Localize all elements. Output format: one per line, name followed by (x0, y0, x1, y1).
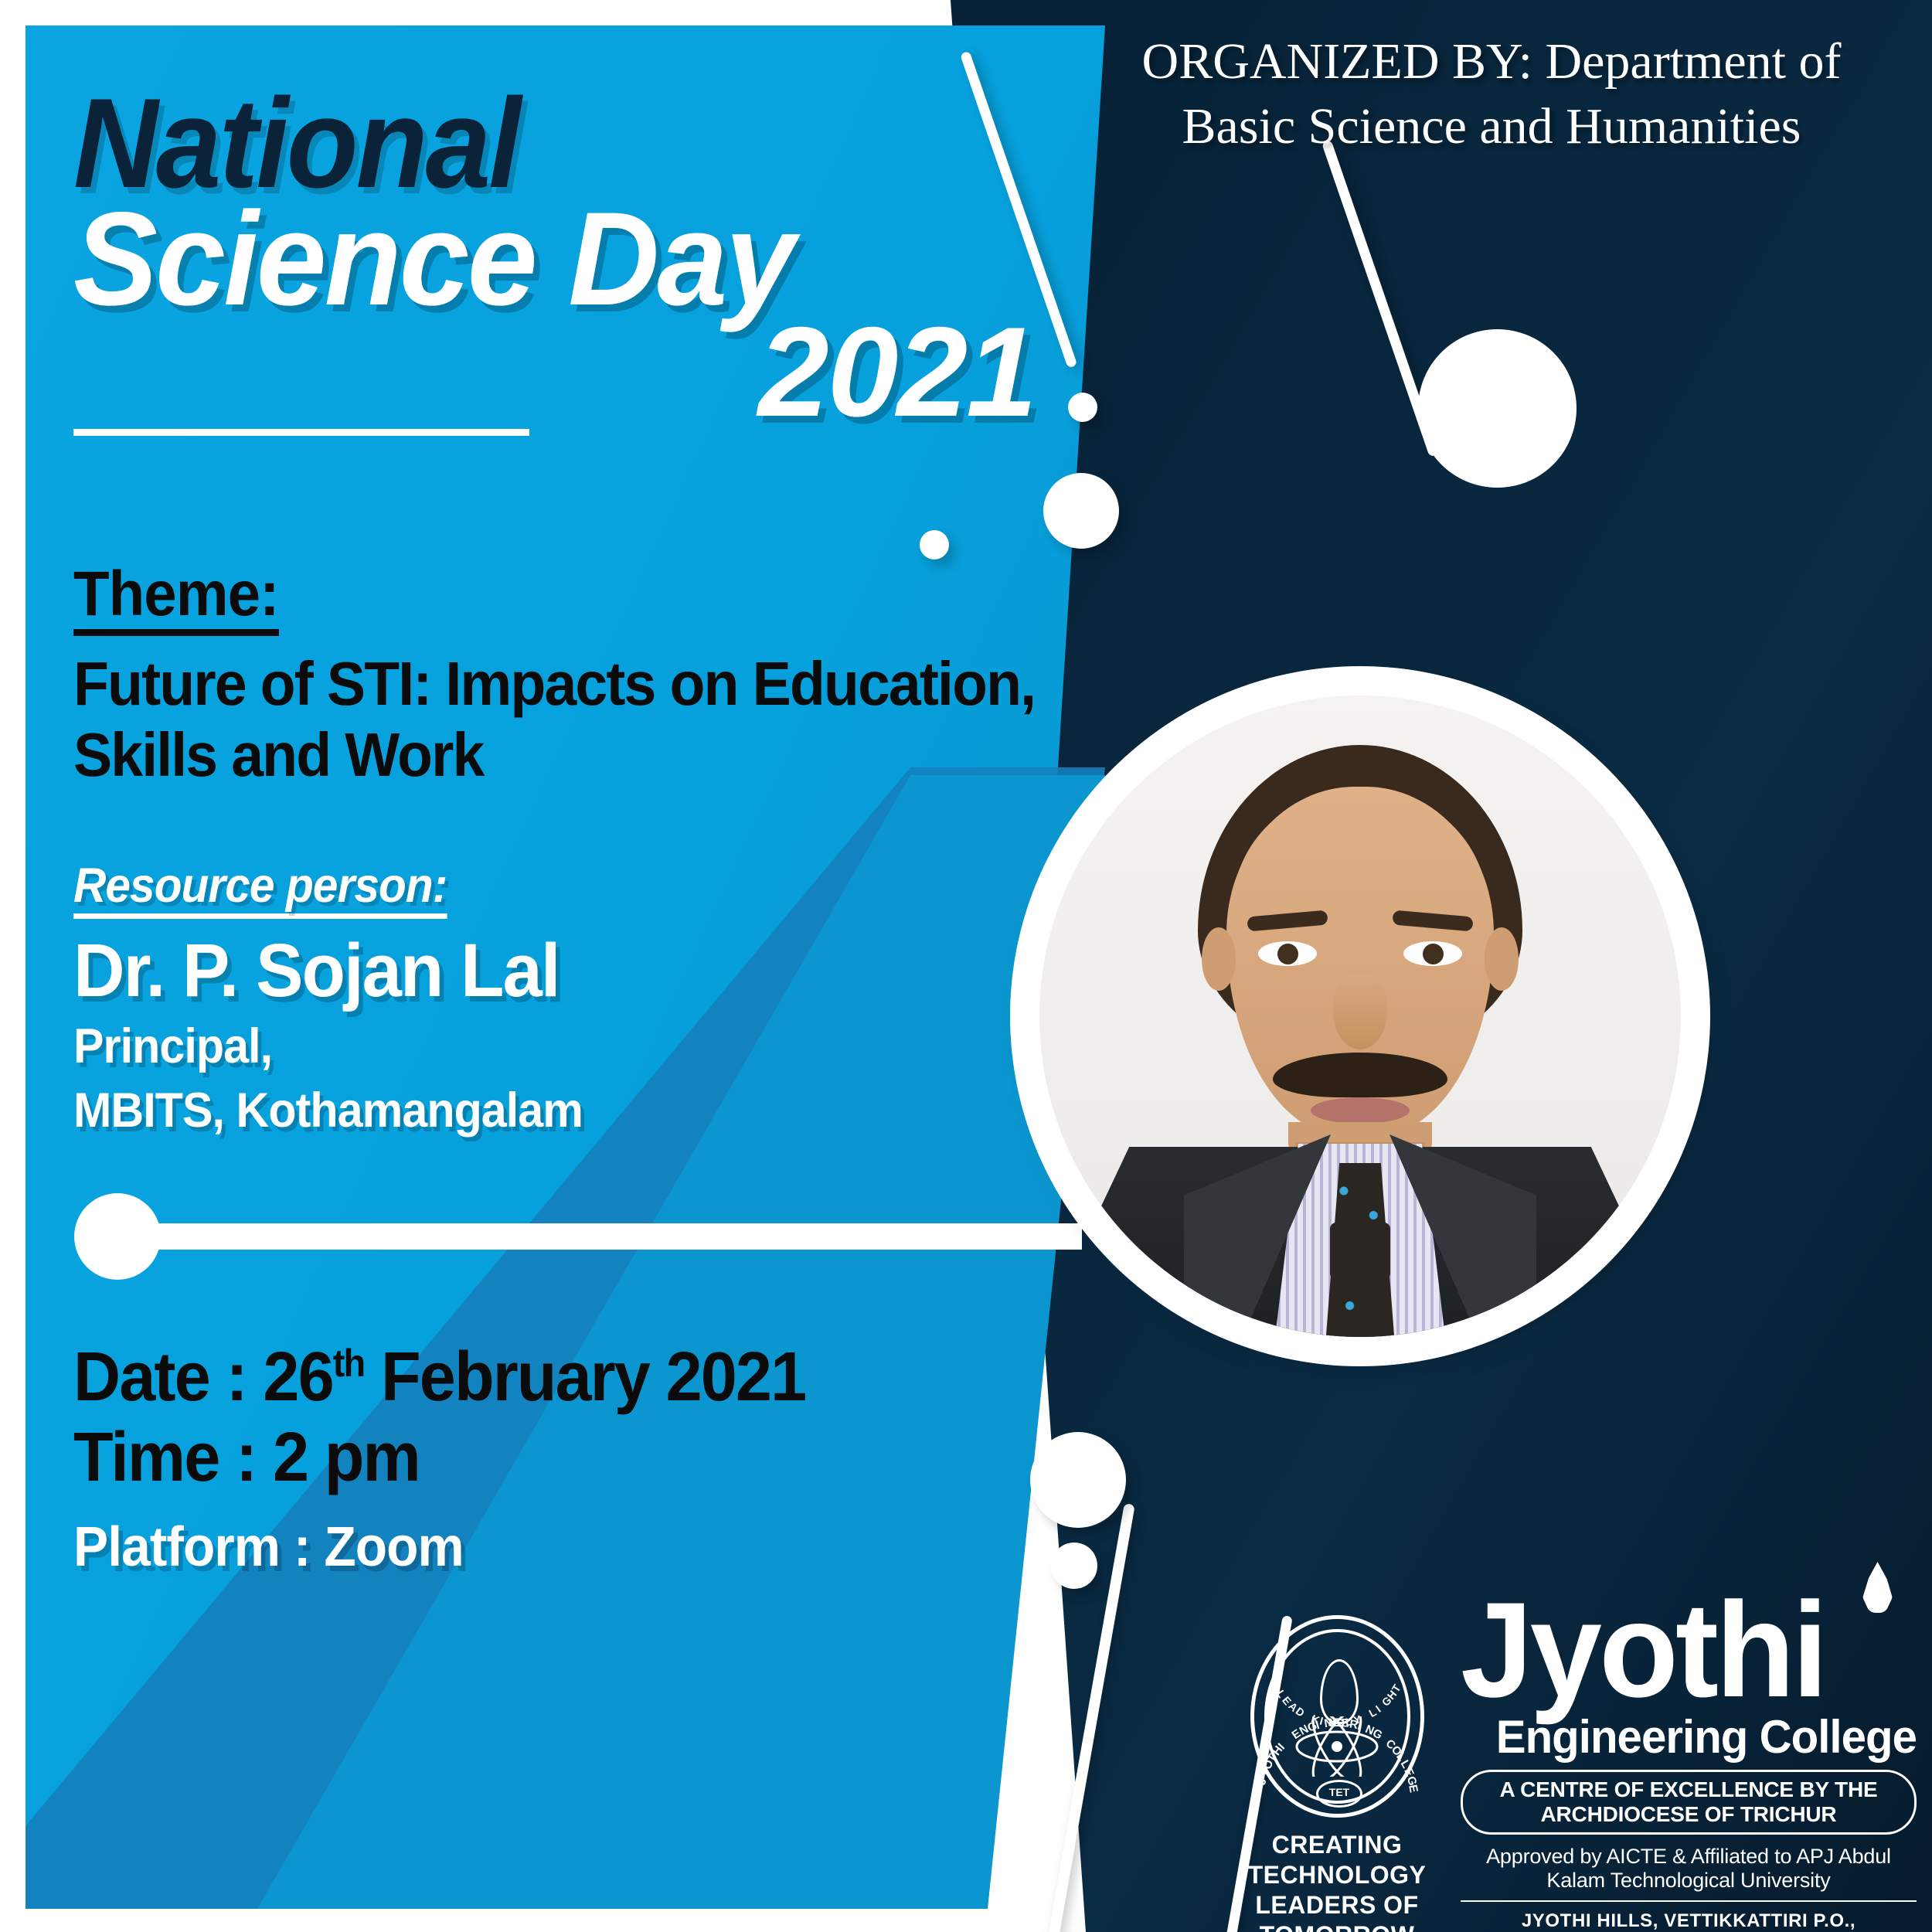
seal-arc-char: E (1406, 1784, 1420, 1794)
seal-atom-icon (1294, 1716, 1379, 1777)
college-logo-block: Jyothi Engineering College A CENTRE OF E… (1461, 1588, 1917, 1932)
resource-person-photo (1024, 680, 1696, 1352)
emblem-tagline-line-1: CREATING TECHNOLOGY (1209, 1830, 1464, 1890)
college-address-line: JYOTHI HILLS, VETTIKKATTIRI P.O., CHERUT… (1461, 1910, 1917, 1932)
portrait-eye-left (1258, 941, 1317, 966)
decorative-dot-large (1418, 329, 1577, 488)
college-wordmark: Jyothi (1461, 1588, 1898, 1713)
headline-line-science-day: Science Day (73, 192, 1050, 325)
poster-canvas: National Science Day 2021 ORGANIZED BY: … (0, 0, 1932, 1932)
organized-by-line-1: ORGANIZED BY: Department of (1078, 29, 1905, 94)
connector-dot (74, 1193, 161, 1280)
decorative-dot-medium-1 (1043, 473, 1119, 549)
decorative-dot-small-3 (1051, 1543, 1097, 1589)
portrait-nose (1333, 974, 1387, 1049)
theme-label: Theme: (73, 560, 279, 636)
theme-block: Theme: Future of STI: Impacts on Educati… (73, 560, 1101, 791)
resource-person-role-line-1: Principal, (73, 1017, 1003, 1077)
seal-tet-badge: TET (1316, 1780, 1362, 1808)
event-platform-line: Platform : Zoom (73, 1514, 988, 1580)
theme-text: Future of STI: Impacts on Education, Ski… (73, 648, 1039, 792)
college-excellence-pill: A CENTRE OF EXCELLENCE BY THE ARCHDIOCES… (1461, 1770, 1917, 1835)
college-approval-line: Approved by AICTE & Affiliated to APJ Ab… (1461, 1845, 1917, 1902)
college-seal-icon: JYOTHI ENGINEERING COLLEGE LEAD KINDLY L… (1250, 1615, 1424, 1818)
connector-bar (151, 1223, 1082, 1250)
portrait-tie-knot (1330, 1223, 1390, 1280)
college-emblem-block: JYOTHI ENGINEERING COLLEGE LEAD KINDLY L… (1209, 1615, 1464, 1932)
portrait-lips (1311, 1097, 1410, 1124)
portrait-image (1039, 696, 1681, 1337)
poster-headline: National Science Day 2021 (73, 81, 1101, 436)
event-date-line: Date : 26th February 2021 (73, 1337, 988, 1417)
portrait-ear-left (1202, 927, 1236, 991)
organized-by-line-2: Basic Science and Humanities (1078, 94, 1905, 159)
headline-underline-rule (73, 429, 529, 436)
emblem-tagline-line-2: LEADERS OF TOMORROW (1209, 1890, 1464, 1932)
college-wordmark-text: Jyothi (1461, 1575, 1825, 1726)
portrait-ear-right (1485, 927, 1519, 991)
college-subtitle: Engineering College (1475, 1714, 1917, 1760)
event-time-line: Time : 2 pm (73, 1417, 988, 1498)
resource-person-role-line-2: MBITS, Kothamangalam (73, 1081, 1003, 1141)
emblem-tagline: CREATING TECHNOLOGY LEADERS OF TOMORROW (1209, 1830, 1464, 1932)
organized-by-block: ORGANIZED BY: Department of Basic Scienc… (1078, 29, 1905, 160)
resource-person-name: Dr. P. Sojan Lal (73, 930, 1013, 1012)
event-date-label: Date : (73, 1338, 263, 1416)
resource-person-label: Resource person: (73, 858, 447, 919)
resource-person-block: Resource person: Dr. P. Sojan Lal Princi… (73, 858, 1063, 1140)
event-date-rest: February 2021 (364, 1338, 805, 1416)
event-date-ordinal: th (333, 1342, 365, 1385)
portrait-eye-right (1403, 941, 1462, 966)
seal-arc-char: J (1255, 1777, 1269, 1787)
decorative-dot-small-2 (920, 530, 949, 560)
event-date-day: 26 (263, 1338, 332, 1416)
event-details-block: Date : 26th February 2021 Time : 2 pm Pl… (73, 1337, 1047, 1580)
